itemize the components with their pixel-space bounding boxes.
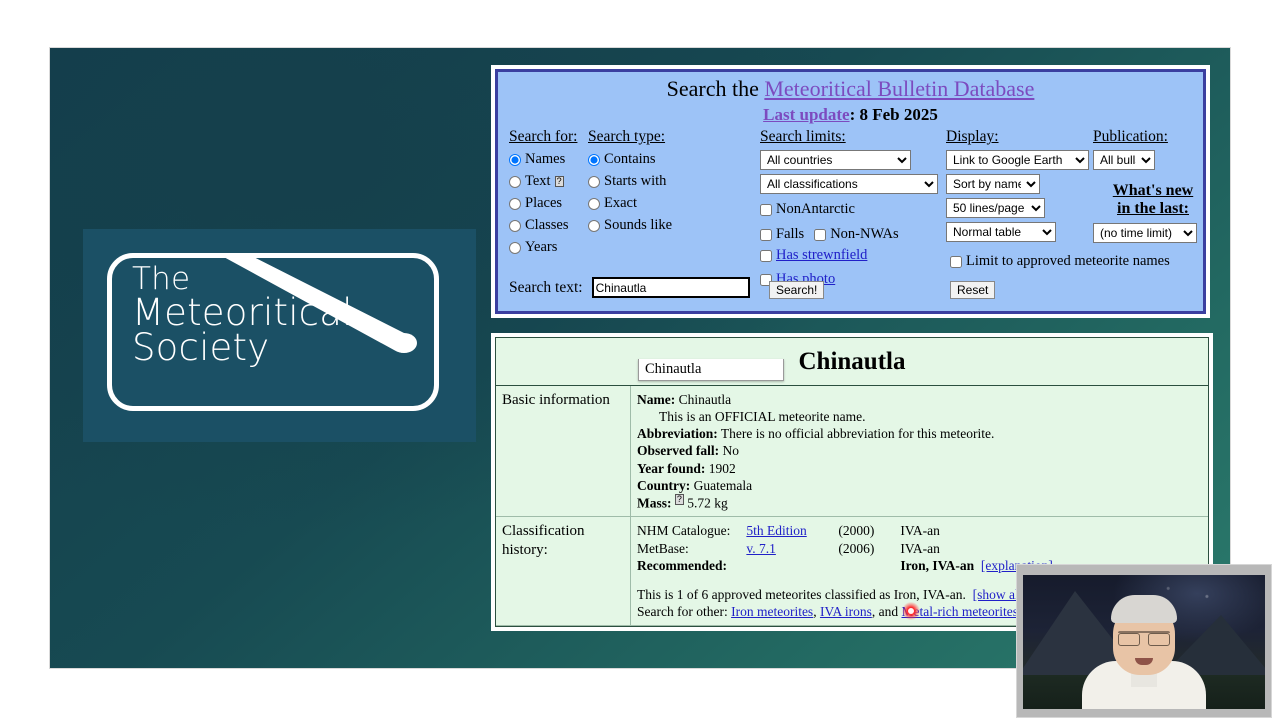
search-button[interactable]: Search!: [769, 281, 824, 299]
lines-per-page-select[interactable]: 50 lines/page: [946, 198, 1045, 218]
classification-row-metbase: MetBase: v. 7.1 (2006) IVA-an: [637, 540, 1069, 557]
abbreviation-value: There is no official abbreviation for th…: [721, 426, 994, 441]
screenshot-root: The Meteoritical Society Search the Mete…: [0, 0, 1280, 720]
checkbox-input-non-nwas[interactable]: [814, 229, 826, 241]
label-exact: Exact: [604, 195, 637, 212]
question-mark-icon[interactable]: ?: [675, 494, 684, 505]
radio-input-places[interactable]: [509, 198, 521, 210]
basic-information-value: Name: Chinautla This is an OFFICIAL mete…: [631, 386, 1209, 517]
classification-summary-text: This is 1 of 6 approved meteorites class…: [637, 587, 966, 602]
checkbox-non-nwas[interactable]: Non-NWAs: [814, 226, 898, 243]
classification-row-recommended: Recommended: Iron, IVA-an [explanation]: [637, 557, 1069, 574]
table-row-basic-information: Basic information Name: Chinautla This i…: [496, 386, 1208, 517]
radio-search-for-names[interactable]: Names: [509, 151, 599, 168]
label-classes: Classes: [525, 217, 569, 234]
nhm-classification: IVA-an: [900, 522, 1069, 539]
logo-line-3: Society: [132, 329, 353, 367]
search-other-joiner-1: ,: [813, 604, 820, 619]
nhm-source: NHM Catalogue:: [637, 522, 746, 539]
meteoritical-society-logo: The Meteoritical Society: [83, 229, 476, 442]
sort-select[interactable]: Sort by name: [946, 174, 1040, 194]
metbase-classification: IVA-an: [900, 540, 1069, 557]
link-has-strewnfield[interactable]: Has strewnfield: [776, 247, 867, 264]
last-update-link[interactable]: Last update: [763, 105, 849, 124]
classification-grid: NHM Catalogue: 5th Edition (2000) IVA-an…: [637, 522, 1069, 573]
search-input[interactable]: [592, 277, 750, 298]
recommended-classification: Iron, IVA-an: [900, 558, 974, 573]
observed-fall-line: Observed fall: No: [637, 442, 1202, 459]
whats-new-line-2: in the last:: [1117, 200, 1189, 217]
classifications-select[interactable]: All classifications: [760, 174, 938, 194]
radio-search-for-text[interactable]: Text?: [509, 173, 599, 190]
official-name-note: This is an OFFICIAL meteorite name.: [637, 408, 1202, 425]
year-found-value: 1902: [709, 461, 736, 476]
display-heading: Display:: [946, 128, 1096, 146]
radio-search-for-places[interactable]: Places: [509, 195, 599, 212]
last-update-line: Last update: 8 Feb 2025: [498, 102, 1203, 125]
metbase-source: MetBase:: [637, 540, 746, 557]
metal-rich-meteorites-link[interactable]: Metal-rich meteorites: [901, 604, 1018, 619]
column-display: Display: Link to Google Earth Sort by na…: [946, 128, 1096, 242]
checkbox-row-falls-nonnwas: Falls Non-NWAs: [760, 226, 960, 243]
mass-line: Mass: ? 5.72 kg: [637, 494, 1202, 512]
countries-select[interactable]: All countries: [760, 150, 911, 170]
radio-input-names[interactable]: [509, 154, 521, 166]
recommended-source: Recommended:: [637, 558, 727, 573]
checkbox-input-falls[interactable]: [760, 229, 772, 241]
logo-rounded-frame: The Meteoritical Society: [107, 253, 439, 411]
observed-fall-label: Observed fall:: [637, 443, 719, 458]
classification-history-label-line-2: history:: [502, 542, 548, 558]
label-years: Years: [525, 239, 557, 256]
nhm-edition-link[interactable]: 5th Edition: [746, 523, 806, 538]
label-non-nwas: Non-NWAs: [830, 226, 898, 243]
country-line: Country: Guatemala: [637, 477, 1202, 494]
autocomplete-item[interactable]: Chinautla: [639, 359, 783, 380]
basic-information-label: Basic information: [496, 386, 631, 517]
search-title: Search the Meteoritical Bulletin Databas…: [498, 72, 1203, 102]
column-search-for: Search for: Names Text? Places Classes Y…: [509, 128, 599, 256]
column-search-type: Search type: Contains Starts with Exact …: [588, 128, 698, 234]
limit-approved-row[interactable]: Limit to approved meteorite names: [950, 253, 1170, 270]
radio-search-type-starts-with[interactable]: Starts with: [588, 173, 698, 190]
radio-search-type-sounds-like[interactable]: Sounds like: [588, 217, 698, 234]
name-line: Name: Chinautla: [637, 391, 1202, 408]
glasses-icon: [1118, 631, 1170, 645]
bulletins-select[interactable]: All bulls: [1093, 150, 1155, 170]
observed-fall-value: No: [723, 443, 740, 458]
label-names: Names: [525, 151, 565, 168]
whats-new-line-1: What's new: [1113, 182, 1193, 199]
publication-heading: Publication:: [1093, 128, 1213, 146]
reset-button[interactable]: Reset: [950, 281, 995, 299]
checkbox-input-has-strewnfield[interactable]: [760, 250, 772, 262]
label-limit-approved: Limit to approved meteorite names: [966, 253, 1170, 270]
checkbox-has-strewnfield[interactable]: Has strewnfield: [760, 247, 960, 264]
label-places: Places: [525, 195, 562, 212]
search-other-prefix: Search for other:: [637, 604, 728, 619]
label-sounds-like: Sounds like: [604, 217, 672, 234]
classification-history-label-line-1: Classification: [502, 523, 585, 539]
checkbox-input-nonantarctic[interactable]: [760, 204, 772, 216]
search-text-row: Search text:: [509, 277, 750, 298]
radio-input-starts-with[interactable]: [588, 176, 600, 188]
country-value: Guatemala: [694, 478, 752, 493]
meteoritical-bulletin-database-link[interactable]: Meteoritical Bulletin Database: [764, 76, 1034, 101]
table-style-select[interactable]: Normal table: [946, 222, 1056, 242]
radio-input-exact[interactable]: [588, 198, 600, 210]
country-label: Country:: [637, 478, 690, 493]
last-update-value: : 8 Feb 2025: [850, 105, 938, 124]
year-found-line: Year found: 1902: [637, 460, 1202, 477]
iron-meteorites-link[interactable]: Iron meteorites: [731, 604, 813, 619]
checkbox-nonantarctic[interactable]: NonAntarctic: [760, 201, 960, 218]
page-title: Chinautla: [496, 338, 1208, 386]
checkbox-falls[interactable]: Falls: [760, 226, 804, 243]
name-value: Chinautla: [679, 392, 732, 407]
mass-value: 5.72 kg: [687, 495, 728, 510]
radio-input-classes[interactable]: [509, 220, 521, 232]
presenter-hair: [1111, 595, 1177, 623]
nhm-year: (2000): [838, 522, 900, 539]
name-label: Name:: [637, 392, 675, 407]
webcam-overlay[interactable]: [1016, 564, 1272, 718]
label-falls: Falls: [776, 226, 804, 243]
label-contains: Contains: [604, 151, 656, 168]
mass-label: Mass:: [637, 495, 672, 510]
question-mark-icon[interactable]: ?: [555, 176, 564, 187]
classification-history-label: Classification history:: [496, 517, 631, 626]
radio-search-type-exact[interactable]: Exact: [588, 195, 698, 212]
column-search-limits: Search limits: All countries All classif…: [760, 128, 960, 288]
time-limit-select[interactable]: (no time limit): [1093, 223, 1197, 243]
label-nonantarctic: NonAntarctic: [776, 201, 855, 218]
webcam-video-feed: [1023, 575, 1265, 709]
column-publication: Publication: All bulls What's new in the…: [1093, 128, 1213, 243]
radio-input-years[interactable]: [509, 242, 521, 254]
search-other-joiner-2: , and: [872, 604, 902, 619]
year-found-label: Year found:: [637, 461, 705, 476]
classification-row-nhm: NHM Catalogue: 5th Edition (2000) IVA-an: [637, 522, 1069, 539]
radio-search-for-years[interactable]: Years: [509, 239, 599, 256]
search-title-prefix: Search the: [667, 76, 765, 101]
search-text-label: Search text:: [509, 279, 583, 297]
autocomplete-dropdown[interactable]: Chinautla: [638, 359, 784, 381]
whats-new-heading: What's new in the last:: [1093, 182, 1213, 219]
logo-wordmark: The Meteoritical Society: [132, 264, 353, 367]
radio-input-sounds-like[interactable]: [588, 220, 600, 232]
search-form-frame: Search the Meteoritical Bulletin Databas…: [495, 69, 1206, 314]
abbreviation-label: Abbreviation:: [637, 426, 718, 441]
radio-input-contains[interactable]: [588, 154, 600, 166]
search-form-panel: Search the Meteoritical Bulletin Databas…: [491, 65, 1210, 318]
metbase-edition-link[interactable]: v. 7.1: [746, 541, 776, 556]
label-text: Text: [525, 173, 551, 190]
radio-search-for-classes[interactable]: Classes: [509, 217, 599, 234]
abbreviation-line: Abbreviation: There is no official abbre…: [637, 425, 1202, 442]
metbase-year: (2006): [838, 540, 900, 557]
iva-irons-link[interactable]: IVA irons: [820, 604, 872, 619]
display-link-select[interactable]: Link to Google Earth: [946, 150, 1089, 170]
search-form-header: Search the Meteoritical Bulletin Databas…: [498, 72, 1203, 125]
search-limits-heading: Search limits:: [760, 128, 960, 146]
radio-input-text[interactable]: [509, 176, 521, 188]
checkbox-input-limit-approved[interactable]: [950, 256, 962, 268]
search-type-heading: Search type:: [588, 128, 698, 146]
search-for-heading: Search for:: [509, 128, 599, 146]
radio-search-type-contains[interactable]: Contains: [588, 151, 698, 168]
label-starts-with: Starts with: [604, 173, 666, 190]
